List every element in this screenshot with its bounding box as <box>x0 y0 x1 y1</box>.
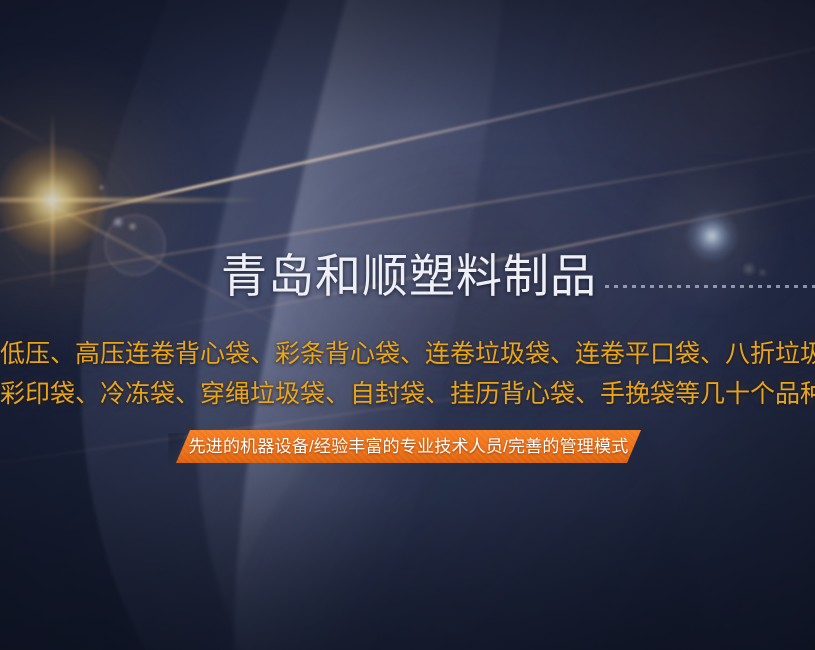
company-title: 青岛和顺塑料制品 <box>221 253 597 299</box>
product-list-line-1: 低压、高压连卷背心袋、彩条背心袋、连卷垃圾袋、连卷平口袋、八折垃圾袋、 <box>0 334 815 374</box>
product-list: 低压、高压连卷背心袋、彩条背心袋、连卷垃圾袋、连卷平口袋、八折垃圾袋、 彩印袋、… <box>0 334 815 414</box>
tagline-text: 先进的机器设备/经验丰富的专业技术人员/完善的管理模式 <box>189 438 629 455</box>
title-row: 青岛和顺塑料制品 <box>0 246 815 306</box>
product-list-line-2: 彩印袋、冷冻袋、穿绳垃圾袋、自封袋、挂历背心袋、手挽袋等几十个品种 <box>0 374 815 414</box>
promo-banner: 青岛和顺塑料制品 低压、高压连卷背心袋、彩条背心袋、连卷垃圾袋、连卷平口袋、八折… <box>0 0 815 650</box>
dotted-rule <box>605 285 815 288</box>
banner-content: 青岛和顺塑料制品 低压、高压连卷背心袋、彩条背心袋、连卷垃圾袋、连卷平口袋、八折… <box>0 0 815 650</box>
tagline-ribbon: 先进的机器设备/经验丰富的专业技术人员/完善的管理模式 <box>176 430 641 463</box>
